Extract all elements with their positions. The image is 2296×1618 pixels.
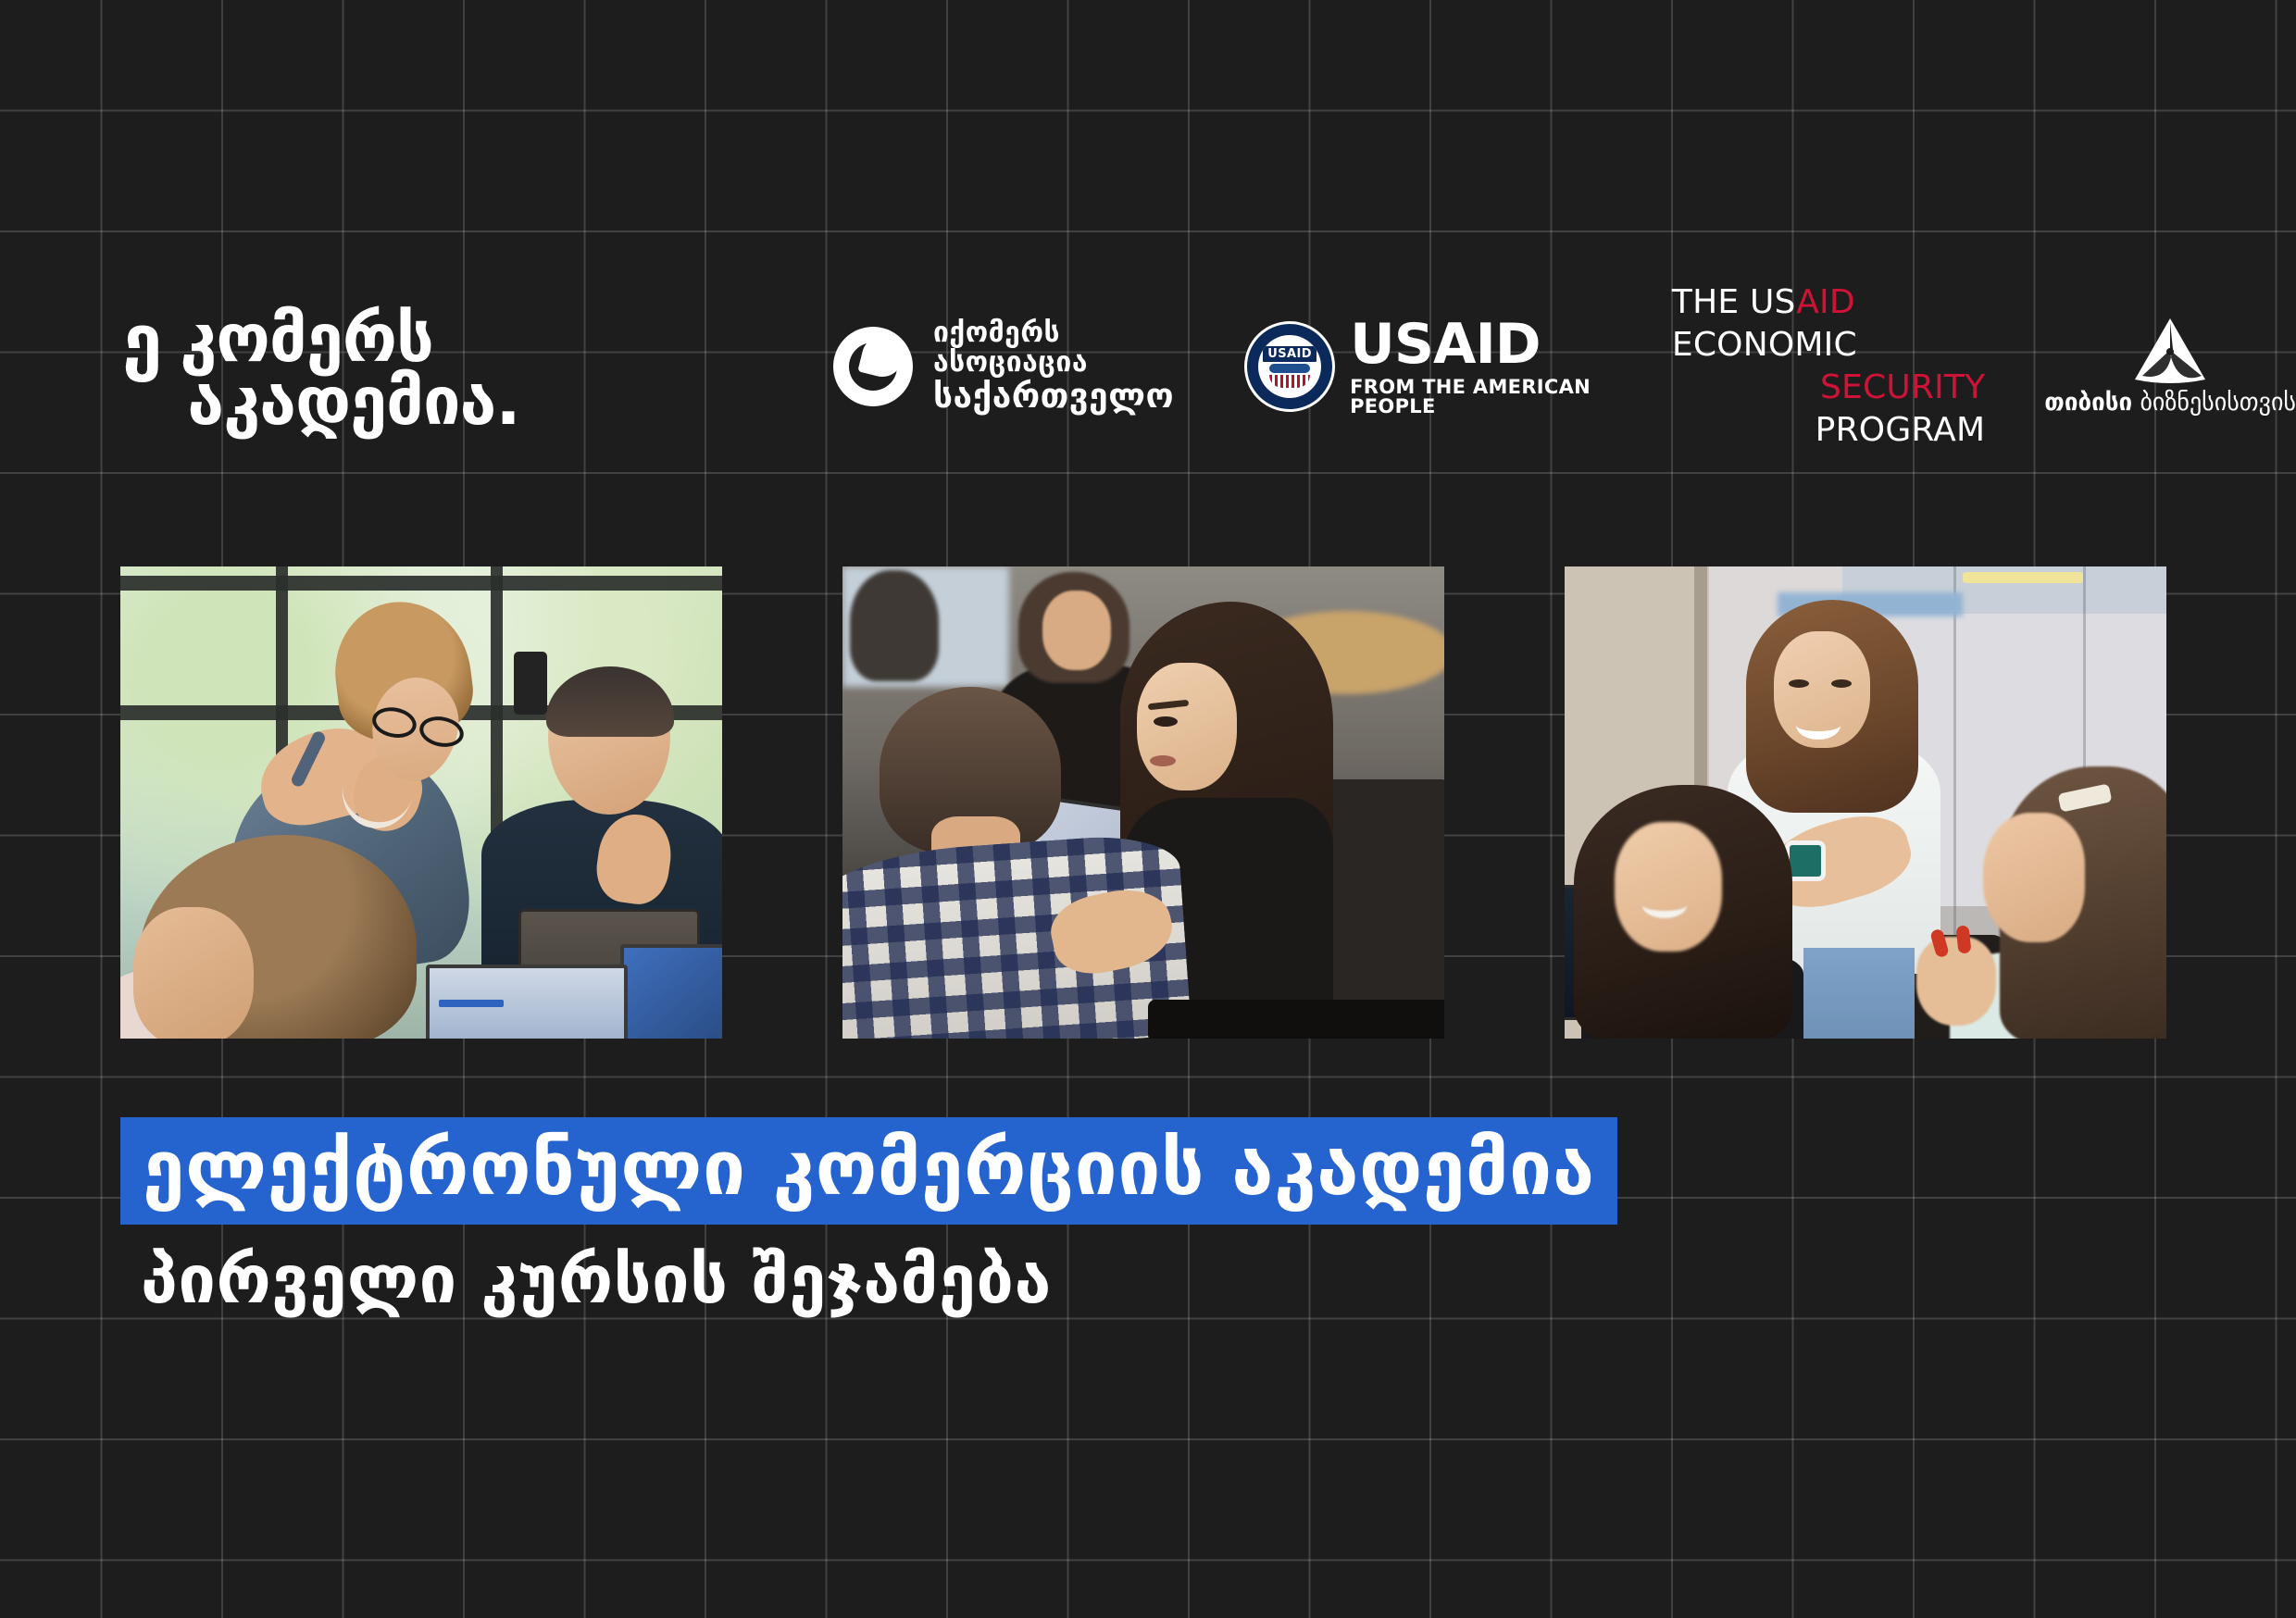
gallery-photo-2 xyxy=(842,566,1444,1039)
page-subtitle: პირველი კურსის შეჯამება xyxy=(141,1240,1052,1318)
gallery-photo-3 xyxy=(1565,566,2166,1039)
logo-header: ე კომერს აკადემია. იქომერს ასოციაცია საქ… xyxy=(0,305,2296,472)
eca-line-1: იქომერს ასოციაცია xyxy=(933,318,1174,379)
logo-ecommerce-association-georgia[interactable]: იქომერს ასოციაცია საქართველო xyxy=(833,318,1211,416)
tbc-triangle-icon xyxy=(2131,317,2209,383)
esp-line2-post: PROGRAM xyxy=(1816,411,1986,449)
esp-line1-red: AID xyxy=(1796,283,1855,321)
logo-tbc-business[interactable]: თიბისი ბიზნესისთვის xyxy=(2016,317,2296,417)
photo-gallery xyxy=(120,566,2166,1039)
usaid-tagline: FROM THE AMERICAN PEOPLE xyxy=(1350,378,1607,417)
usaid-seal-icon: USAID xyxy=(1244,321,1335,412)
page-title: ელექტრონული კომერციის აკადემია xyxy=(120,1117,1617,1225)
logo-usaid[interactable]: USAID USAID FROM THE AMERICAN PEOPLE xyxy=(1211,317,1641,417)
esp-line1-pre: THE US xyxy=(1672,283,1796,321)
usaid-seal-label: USAID xyxy=(1263,346,1316,362)
partner-logo-row: იქომერს ასოციაცია საქართველო USAID USAID xyxy=(833,311,2296,422)
esp-line1-post: ECONOMIC xyxy=(1672,326,1857,364)
esp-line2-red: SECURITY xyxy=(1820,368,1985,406)
brand-line-1: კომერს xyxy=(180,307,519,370)
headline-block: ელექტრონული კომერციის აკადემია xyxy=(120,1117,1617,1225)
brand-line-2: აკადემია. xyxy=(187,370,519,433)
logo-usaid-economic-security-program[interactable]: THE USAID ECONOMIC SECURITY PROGRAM xyxy=(1641,281,2016,452)
brand-mark-letter: ე xyxy=(122,307,161,376)
brand-logo[interactable]: ე კომერს აკადემია. xyxy=(122,307,520,432)
tbc-suffix: ბიზნესისთვის xyxy=(2132,389,2296,417)
ecommerce-association-icon xyxy=(833,327,913,406)
eca-line-2: საქართველო xyxy=(933,378,1174,415)
usaid-wordmark: USAID xyxy=(1350,317,1607,372)
gallery-photo-1 xyxy=(120,566,722,1039)
tbc-name: თიბისი xyxy=(2044,389,2132,417)
poster-canvas: ე კომერს აკადემია. იქომერს ასოციაცია საქ… xyxy=(0,0,2296,1618)
stars-stripes-icon xyxy=(1269,375,1310,388)
handshake-icon xyxy=(1269,364,1310,373)
